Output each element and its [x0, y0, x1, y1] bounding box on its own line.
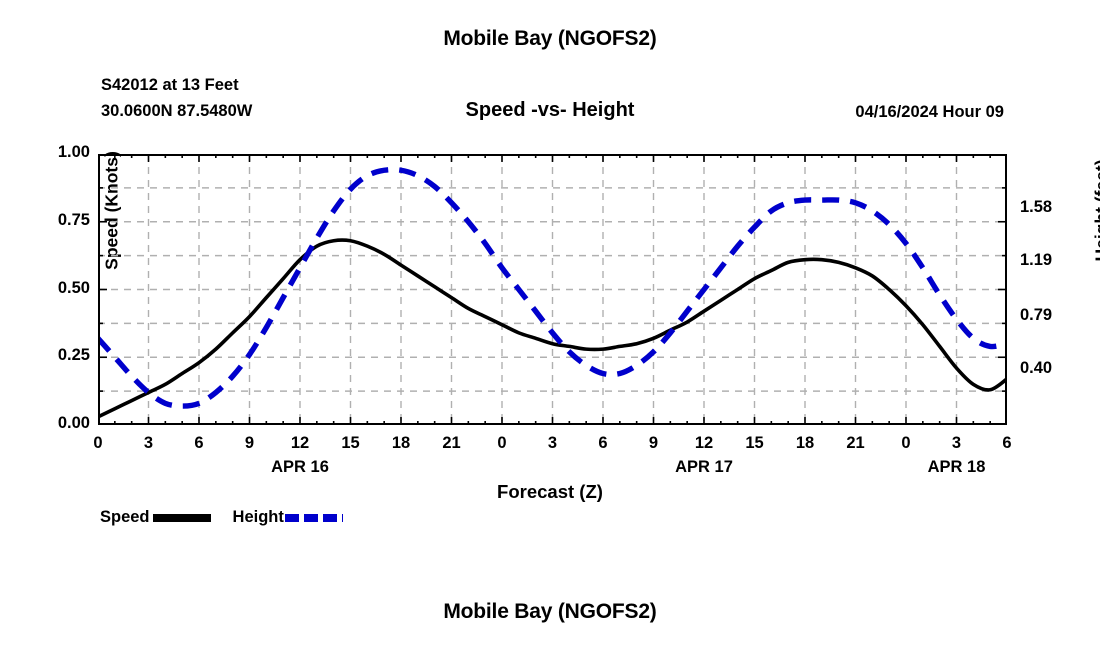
- y-tick-left: 0.00: [20, 414, 90, 433]
- x-axis-title: Forecast (Z): [0, 481, 1100, 503]
- legend-entry-speed: Speed: [100, 508, 211, 527]
- y-tick-right: 0.79: [1020, 306, 1052, 325]
- x-day-label: APR 17: [634, 458, 774, 477]
- x-tick: 9: [634, 434, 674, 453]
- page-title-bottom: Mobile Bay (NGOFS2): [0, 600, 1100, 624]
- x-tick: 3: [129, 434, 169, 453]
- plot-area: [98, 154, 1007, 425]
- legend-swatch-speed-icon: [153, 514, 211, 522]
- legend-swatch-height-icon: [285, 514, 343, 522]
- plot-frame: [98, 154, 1007, 425]
- model-run-label: 04/16/2024 Hour 09: [855, 103, 1004, 122]
- x-tick: 3: [533, 434, 573, 453]
- x-tick: 18: [381, 434, 421, 453]
- x-tick: 0: [482, 434, 522, 453]
- legend-label-height: Height: [233, 508, 284, 527]
- x-tick: 6: [179, 434, 219, 453]
- x-day-label: APR 18: [887, 458, 1027, 477]
- x-tick: 12: [684, 434, 724, 453]
- y-axis-right-title: Height (feet): [1092, 91, 1100, 331]
- x-tick: 0: [886, 434, 926, 453]
- x-tick: 15: [735, 434, 775, 453]
- x-tick: 6: [583, 434, 623, 453]
- y-tick-right: 0.40: [1020, 359, 1052, 378]
- y-tick-left: 0.25: [20, 346, 90, 365]
- legend: Speed Height: [100, 508, 343, 527]
- x-tick: 18: [785, 434, 825, 453]
- x-tick: 21: [432, 434, 472, 453]
- y-tick-left: 1.00: [20, 143, 90, 162]
- y-tick-left: 0.75: [20, 211, 90, 230]
- x-day-label: APR 16: [230, 458, 370, 477]
- x-tick: 9: [230, 434, 270, 453]
- page-title-top: Mobile Bay (NGOFS2): [0, 27, 1100, 51]
- x-tick: 12: [280, 434, 320, 453]
- x-tick: 0: [78, 434, 118, 453]
- x-tick: 3: [937, 434, 977, 453]
- y-tick-left: 0.50: [20, 279, 90, 298]
- legend-entry-height: Height: [233, 508, 343, 527]
- y-tick-right: 1.58: [1020, 198, 1052, 217]
- x-tick: 21: [836, 434, 876, 453]
- x-tick: 6: [987, 434, 1027, 453]
- legend-label-speed: Speed: [100, 508, 150, 527]
- x-tick: 15: [331, 434, 371, 453]
- chart-page: Mobile Bay (NGOFS2) S42012 at 13 Feet 30…: [0, 0, 1100, 650]
- y-tick-right: 1.19: [1020, 251, 1052, 270]
